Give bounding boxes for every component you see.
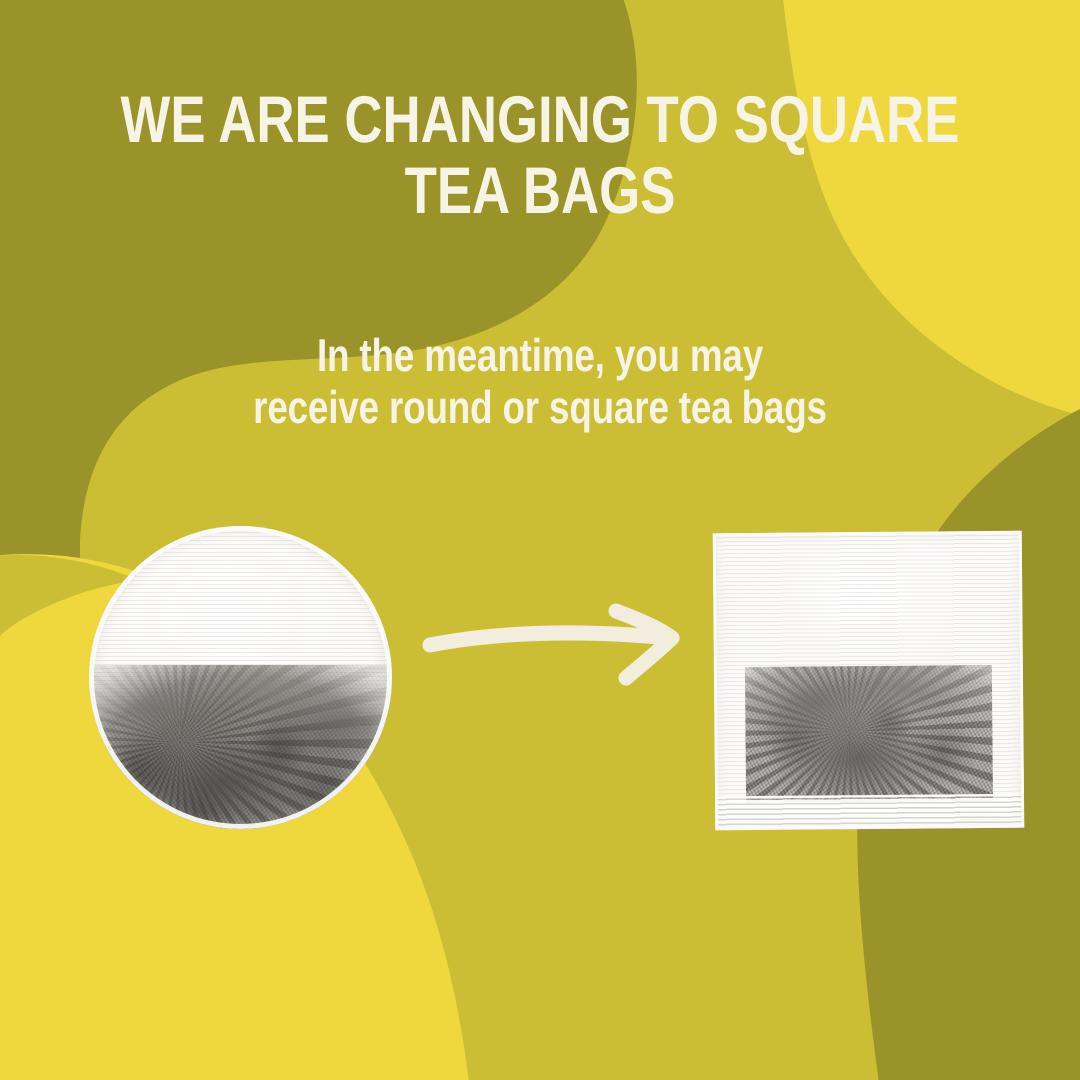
square-tea-bag-edge (713, 531, 1025, 831)
arrow-head-lower (626, 638, 672, 678)
subheading-line-1: In the meantime, you may (108, 330, 972, 382)
subheading: In the meantime, you may receive round o… (108, 330, 972, 433)
square-tea-bag-photo (713, 531, 1025, 831)
subheading-line-2: receive round or square tea bags (108, 382, 972, 434)
round-tea-bag-edge (89, 526, 392, 829)
tea-bag-announcement-poster: WE ARE CHANGING TO SQUARE TEA BAGS In th… (0, 0, 1080, 1080)
right-arrow-icon (418, 588, 698, 700)
arrow-shaft (430, 633, 660, 645)
page-title: WE ARE CHANGING TO SQUARE TEA BAGS (108, 84, 972, 227)
round-tea-bag-photo (89, 526, 392, 829)
